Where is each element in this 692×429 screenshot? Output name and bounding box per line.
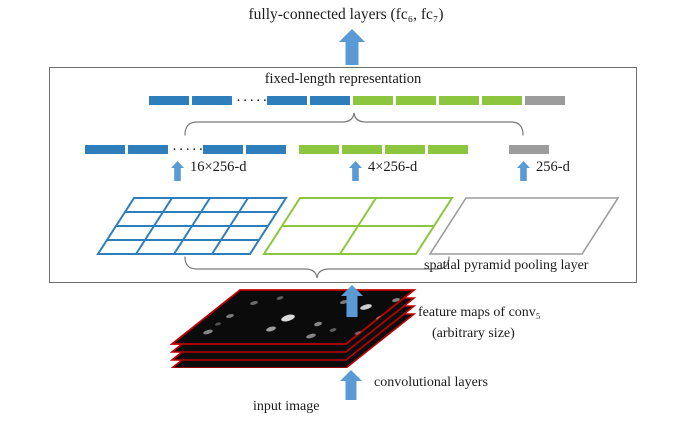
arrow-pool-16-icon <box>171 161 184 181</box>
convolutional-layers-label: convolutional layers <box>374 375 488 391</box>
concat-brace <box>184 112 524 136</box>
arrow-to-fc-layers-icon <box>339 29 365 65</box>
pooled-bar-blue-1 <box>85 145 125 154</box>
feature-maps-label-line1: feature maps of conv₅ <box>418 305 541 321</box>
fully-connected-layers-label: fully-connected layers (fc₆, fc₇) <box>0 6 692 24</box>
input-image-label: input image <box>253 399 320 415</box>
feature-maps-stack <box>168 288 418 368</box>
pooled-bar-green-2 <box>342 145 382 154</box>
pooled-bar-gray-1 <box>509 145 549 154</box>
pyramid-grid-1x1 <box>428 196 620 258</box>
pooled-bar-green-3 <box>385 145 425 154</box>
fixed-length-representation-label: fixed-length representation <box>49 71 637 88</box>
pooled-bar-blue-2 <box>128 145 168 154</box>
concat-bar-blue-1 <box>149 96 189 105</box>
dimension-label-green: 4×256-d <box>368 159 417 176</box>
arrow-pool-4-icon <box>349 161 362 181</box>
pyramid-grid-2x2 <box>262 196 454 258</box>
figure-canvas: fully-connected layers (fc₆, fc₇) fixed-… <box>0 0 692 429</box>
pooled-bar-green-1 <box>299 145 339 154</box>
spatial-pyramid-pooling-layer-label: spatial pyramid pooling layer <box>424 258 588 274</box>
arrow-pool-1-icon <box>517 161 530 181</box>
pooled-bar-blue-3 <box>203 145 243 154</box>
concat-bar-green-2 <box>396 96 436 105</box>
concat-bar-blue-3 <box>267 96 307 105</box>
dimension-label-blue: 16×256-d <box>190 159 247 176</box>
concat-bar-green-1 <box>353 96 393 105</box>
pooled-bar-green-4 <box>428 145 468 154</box>
concat-bar-blue-4 <box>310 96 350 105</box>
dimension-label-gray: 256-d <box>536 159 570 176</box>
feature-maps-label-line2: (arbitrary size) <box>432 326 515 342</box>
spp-input-brace <box>184 256 450 280</box>
pooled-bar-blue-4 <box>246 145 286 154</box>
concat-bar-blue-2 <box>192 96 232 105</box>
concat-bar-gray-1 <box>525 96 565 105</box>
arrow-input-to-conv-icon <box>340 370 362 400</box>
arrow-featuremaps-to-spp-icon <box>341 285 363 317</box>
concat-bar-green-4 <box>482 96 522 105</box>
pyramid-grid-4x4 <box>96 196 288 258</box>
concat-bar-green-3 <box>439 96 479 105</box>
